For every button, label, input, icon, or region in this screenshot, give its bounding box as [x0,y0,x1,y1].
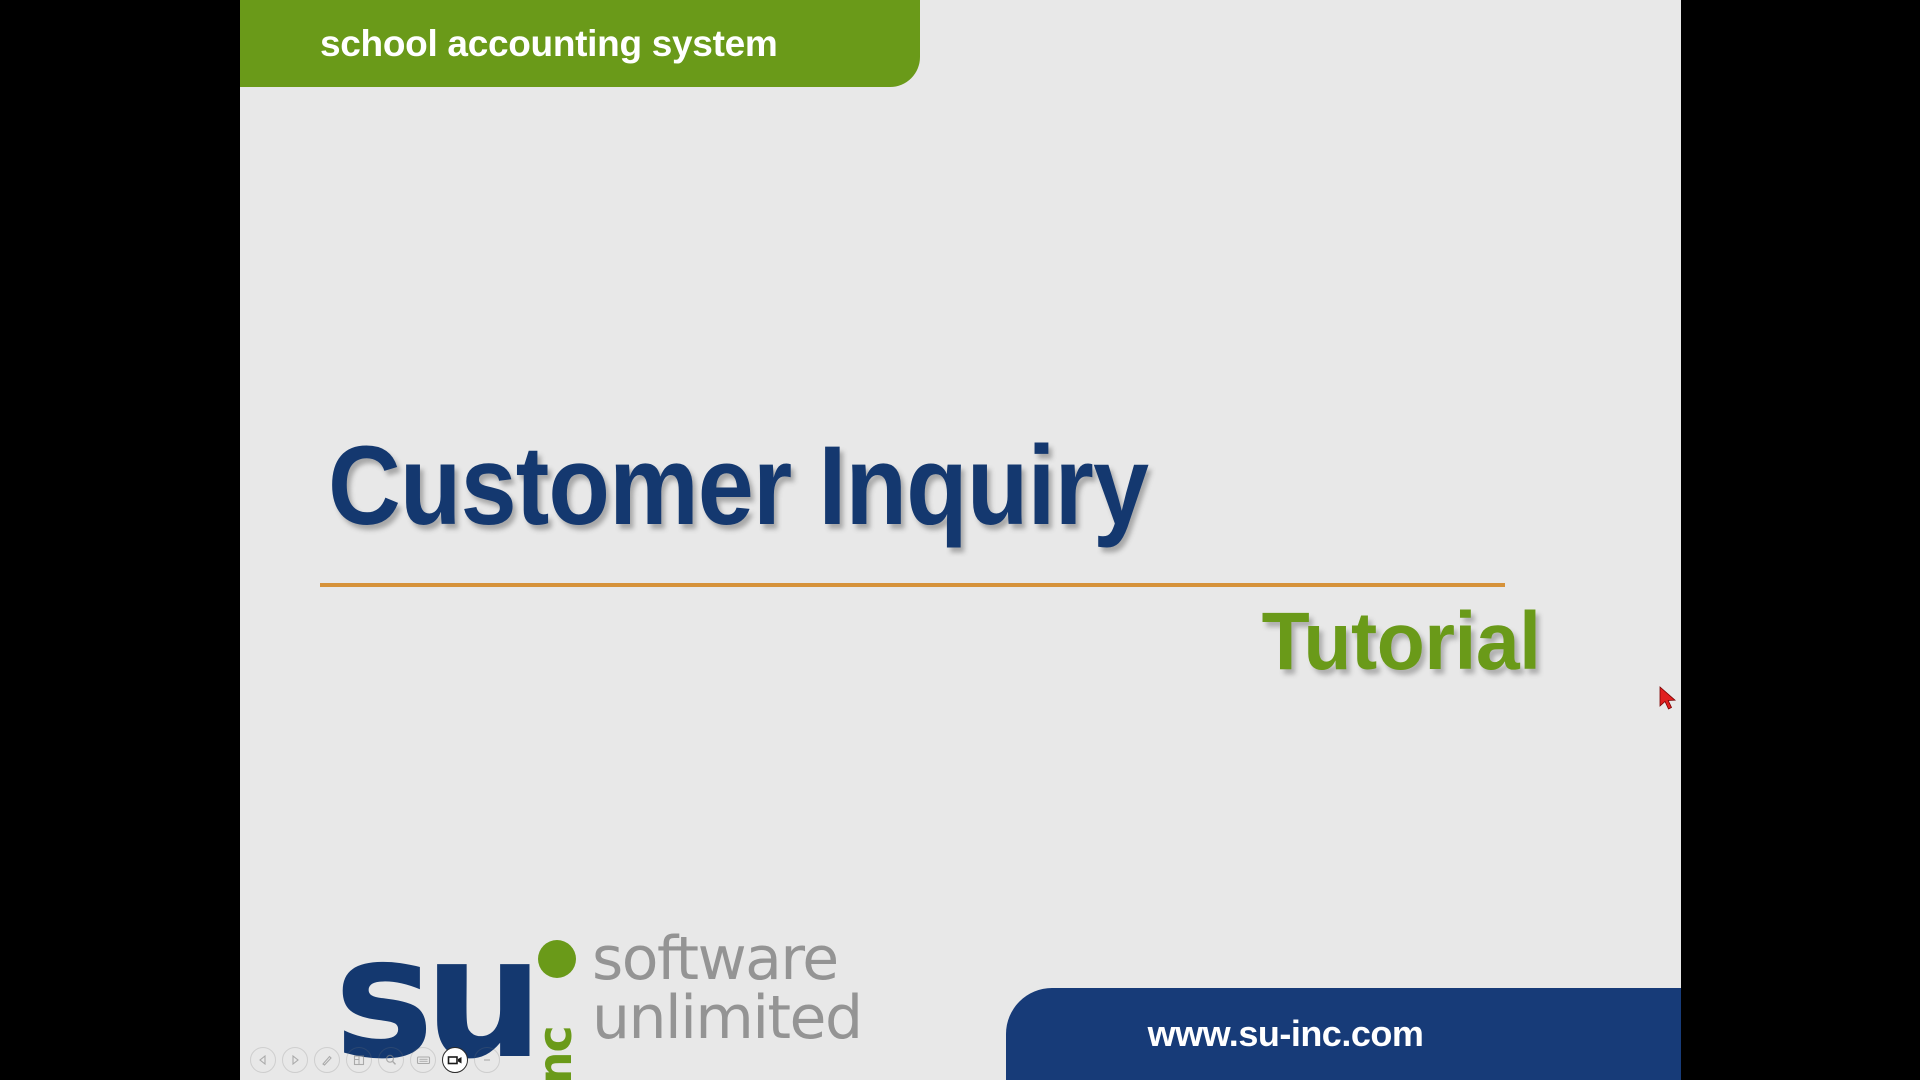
product-banner-label: school accounting system [320,23,777,65]
logo-word-unlimited: unlimited [592,989,862,1048]
title-divider [320,583,1505,587]
logo-wordmark: software unlimited [592,930,862,1048]
player-control-bar[interactable] [250,1044,500,1076]
triangle-left-icon [257,1054,269,1066]
logo-inc-group: inc [534,940,580,1070]
subtitle-text: Tutorial [1262,595,1541,689]
keyboard-icon [416,1054,431,1066]
more-options-button[interactable] [474,1047,500,1073]
video-camera-icon [447,1054,463,1066]
annotate-pen-button[interactable] [314,1047,340,1073]
subtitle-block: Tutorial [240,595,1681,689]
triangle-right-icon [289,1054,301,1066]
logo-inc-text: inc [532,995,578,1080]
website-banner: www.su-inc.com [1006,988,1681,1080]
layout-panels-button[interactable] [346,1047,372,1073]
website-url: www.su-inc.com [1006,1013,1681,1055]
captions-button[interactable] [410,1047,436,1073]
zoom-search-button[interactable] [378,1047,404,1073]
page-title: Customer Inquiry [328,430,1148,542]
product-banner: school accounting system [240,0,920,87]
video-stage: school accounting system Customer Inquir… [0,0,1920,1080]
logo-word-software: software [592,930,862,989]
presentation-slide: school accounting system Customer Inquir… [240,0,1681,1080]
play-button[interactable] [282,1047,308,1073]
logo-dot-icon [538,940,576,978]
panels-icon [352,1053,366,1067]
circle-icon [481,1054,493,1066]
record-video-button[interactable] [442,1047,468,1073]
pen-icon [320,1053,334,1067]
previous-slide-button[interactable] [250,1047,276,1073]
magnifier-icon [384,1053,398,1067]
